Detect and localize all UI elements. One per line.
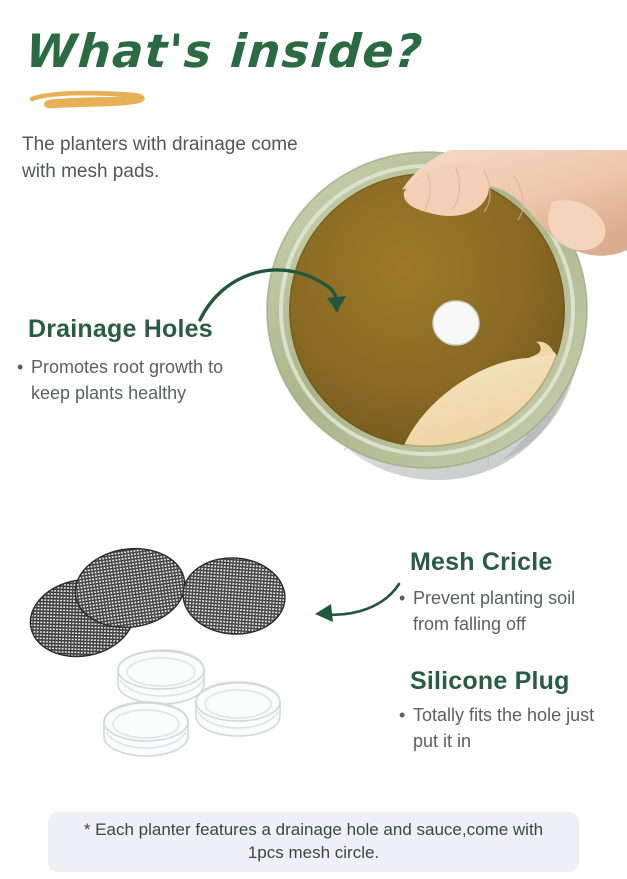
- footer-note-text: * Each planter features a drainage hole …: [74, 819, 553, 865]
- bullet-marker: •: [399, 586, 405, 612]
- drainage-hole: [433, 301, 479, 345]
- infographic-page: What's inside? The planters with drainag…: [0, 0, 627, 879]
- bullet-marker: •: [17, 355, 23, 381]
- title-underline-swoosh: [30, 90, 156, 110]
- bullet-text: Prevent planting soil from falling off: [399, 586, 614, 637]
- curved-arrow-to-drainage-hole: [196, 258, 356, 338]
- section-bullet-silicone-plug: • Totally fits the hole just put it in: [399, 703, 614, 754]
- silicone-plug-2: [196, 682, 280, 736]
- section-heading-silicone-plug: Silicone Plug: [410, 667, 570, 696]
- bullet-marker: •: [399, 703, 405, 729]
- silicone-plug-1: [118, 650, 204, 704]
- bullet-text: Promotes root growth to keep plants heal…: [17, 355, 267, 406]
- curved-arrow-to-mesh-circles: [305, 578, 405, 634]
- silicone-plugs-photo: [100, 640, 290, 760]
- section-bullet-drainage-holes: • Promotes root growth to keep plants he…: [17, 355, 267, 406]
- footer-note-box: * Each planter features a drainage hole …: [48, 812, 579, 872]
- section-heading-drainage-holes: Drainage Holes: [28, 315, 213, 344]
- section-heading-mesh-circle: Mesh Cricle: [410, 548, 553, 577]
- mesh-circle-3: [180, 555, 287, 638]
- section-bullet-mesh-circle: • Prevent planting soil from falling off: [399, 586, 614, 637]
- title-block: What's inside?: [26, 28, 386, 120]
- silicone-plug-3: [104, 702, 188, 756]
- bullet-text: Totally fits the hole just put it in: [399, 703, 614, 754]
- page-title: What's inside?: [24, 28, 387, 74]
